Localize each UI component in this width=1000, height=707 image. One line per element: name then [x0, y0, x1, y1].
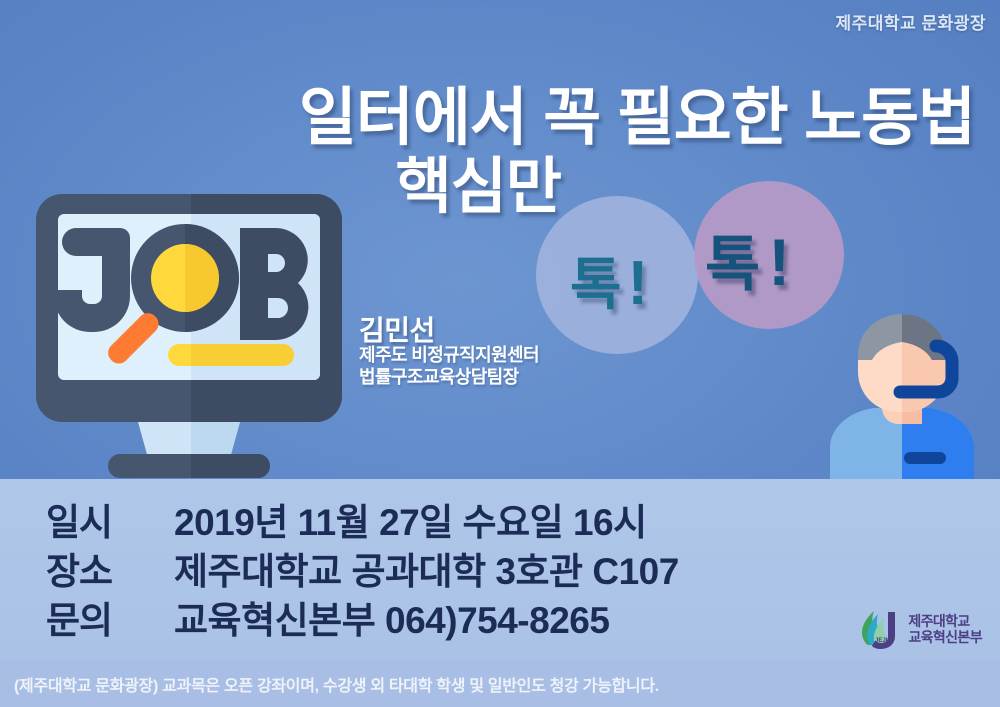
- university-logo: JEJU 제주대학교 교육혁신본부: [856, 608, 982, 652]
- poster-canvas: 제주대학교 문화광장: [0, 0, 1000, 707]
- job-monitor-illustration: [34, 192, 344, 480]
- info-value-datetime: 2019년 11월 27일 수요일 16시: [174, 492, 647, 546]
- agent-shirt-stripe: [904, 452, 946, 464]
- speaker-affiliation: 제주도 비정규직지원센터: [359, 345, 539, 366]
- info-label-datetime: 일시: [46, 492, 174, 546]
- tok-exclamation-second: !: [768, 225, 790, 299]
- jeju-logo-mark-icon: JEJU: [856, 608, 902, 652]
- title-line-1: 일터에서 꼭 필요한 노동법: [0, 86, 975, 150]
- info-label-contact: 문의: [46, 590, 174, 644]
- logo-mark-text: JEJU: [875, 638, 890, 644]
- info-row-contact: 문의 교육혁신본부 064)754-8265: [46, 590, 679, 639]
- tok-text-first: 톡!: [570, 240, 648, 321]
- logo-text-line-2: 교육혁신본부: [908, 630, 982, 646]
- logo-text-line-1: 제주대학교: [908, 614, 982, 630]
- tok-exclamation-first: !: [628, 249, 649, 318]
- footer-band: (제주대학교 문화광장) 교과목은 오픈 강좌이며, 수강생 외 타대학 학생 …: [0, 660, 1000, 707]
- speaker-position: 법률구조교육상담팀장: [359, 367, 539, 388]
- speaker-block: 김민선 제주도 비정규직지원센터 법률구조교육상담팀장: [359, 316, 539, 388]
- info-row-datetime: 일시 2019년 11월 27일 수요일 16시: [46, 492, 679, 541]
- job-letter-b: [240, 228, 308, 340]
- tok-label-second: 톡: [705, 231, 760, 298]
- tok-text-second: 톡!: [705, 216, 790, 303]
- poster-title-block: 일터에서 꼭 필요한 노동법 핵심만: [0, 86, 975, 217]
- info-value-location: 제주대학교 공과대학 3호관 C107: [174, 541, 679, 595]
- info-label-location: 장소: [46, 541, 174, 595]
- info-row-location: 장소 제주대학교 공과대학 3호관 C107: [46, 541, 679, 590]
- support-agent-svg: [812, 300, 992, 480]
- screen-highlight-bar-shadow-fill: [191, 344, 211, 366]
- event-info-rows: 일시 2019년 11월 27일 수요일 16시 장소 제주대학교 공과대학 3…: [46, 492, 679, 639]
- job-monitor-svg: [34, 192, 344, 480]
- logo-text-block: 제주대학교 교육혁신본부: [908, 614, 982, 645]
- tok-label-first: 톡: [570, 253, 622, 316]
- monitor-stand-base-shadow-fill: [191, 454, 221, 478]
- event-info-panel: 일시 2019년 11월 27일 수요일 16시 장소 제주대학교 공과대학 3…: [0, 479, 1000, 660]
- footer-note: (제주대학교 문화광장) 교과목은 오픈 강좌이며, 수강생 외 타대학 학생 …: [0, 672, 659, 696]
- info-value-contact: 교육혁신본부 064)754-8265: [174, 590, 609, 644]
- support-agent-illustration: [812, 300, 992, 480]
- monitor-stand-neck-shadow: [191, 422, 240, 458]
- organization-label: 제주대학교 문화광장: [836, 9, 986, 34]
- speaker-name: 김민선: [359, 316, 539, 345]
- title-line-2: 핵심만: [0, 155, 975, 217]
